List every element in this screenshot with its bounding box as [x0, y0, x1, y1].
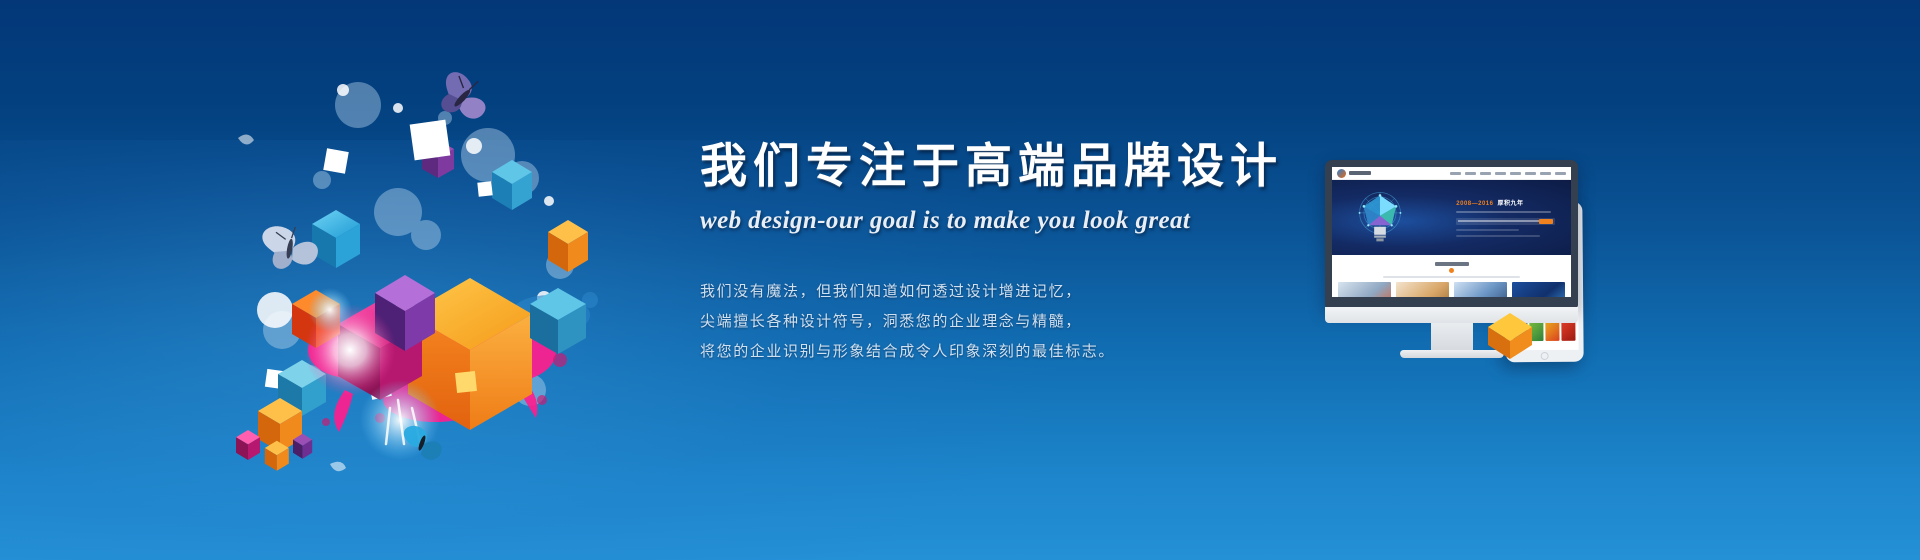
banner-description: 我们没有魔法，但我们知道如何透过设计增进记忆， 尖端擅长各种设计符号，洞悉您的企…: [700, 277, 1320, 367]
monitor-neck: [1431, 323, 1473, 350]
nav-item: [1450, 172, 1461, 175]
lightbulb-icon: [1358, 191, 1402, 245]
description-line-3: 将您的企业识别与形象结合成令人印象深刻的最佳标志。: [700, 337, 1320, 367]
service-thumbnails: [1338, 282, 1565, 297]
hero-bar-fill: [1458, 220, 1539, 222]
banner-copy: 我们专注于高端品牌设计 web design-our goal is to ma…: [700, 138, 1320, 367]
thumbnail: [1396, 282, 1449, 297]
nav-item: [1510, 172, 1521, 175]
hero-cta-bar: [1456, 218, 1555, 225]
butterfly-left: [260, 218, 320, 272]
orange-cube-icon: [1488, 313, 1532, 359]
abstract-artwork: [230, 60, 630, 480]
section-title: [1435, 262, 1469, 266]
device-mockups: 2008—2016厚积九年: [1325, 160, 1655, 400]
description-line-1: 我们没有魔法，但我们知道如何透过设计增进记忆，: [700, 277, 1320, 307]
nav-item: [1540, 172, 1551, 175]
nav-item: [1495, 172, 1506, 175]
hero-banner: 我们专注于高端品牌设计 web design-our goal is to ma…: [0, 0, 1920, 560]
site-body: [1332, 255, 1571, 297]
site-logo-icon: [1337, 169, 1346, 178]
monitor-screen: 2008—2016厚积九年: [1332, 167, 1571, 297]
description-line-2: 尖端擅长各种设计符号，洞悉您的企业理念与精髓，: [700, 307, 1320, 337]
nav-item: [1480, 172, 1491, 175]
thumbnail: [1338, 282, 1391, 297]
site-hero-banner: 2008—2016厚积九年: [1332, 180, 1571, 255]
hero-year-label: 2008—2016厚积九年: [1456, 200, 1561, 208]
page-title: 我们专注于高端品牌设计: [700, 138, 1320, 193]
hero-text-block: 2008—2016厚积九年: [1456, 200, 1561, 237]
monitor-chin: [1325, 307, 1578, 323]
monitor-bezel: 2008—2016厚积九年: [1325, 160, 1578, 308]
desktop-website-preview: 2008—2016厚积九年: [1332, 167, 1571, 297]
banner-subtitle: web design-our goal is to make you look …: [700, 207, 1320, 235]
nav-item: [1465, 172, 1476, 175]
hero-line: [1456, 229, 1519, 231]
site-nav: [1332, 167, 1571, 180]
nav-item: [1525, 172, 1536, 175]
nav-item: [1555, 172, 1566, 175]
thumbnail: [1454, 282, 1507, 297]
thumbnail: [1512, 282, 1565, 297]
site-nav-menu: [1450, 172, 1566, 175]
section-marker: [1449, 268, 1454, 273]
hero-line: [1456, 235, 1540, 237]
desktop-monitor: 2008—2016厚积九年: [1325, 160, 1578, 358]
hero-subline: [1456, 211, 1551, 213]
section-desc: [1383, 276, 1519, 278]
site-logo-text: [1349, 171, 1371, 175]
hero-cta-button: [1539, 219, 1553, 224]
